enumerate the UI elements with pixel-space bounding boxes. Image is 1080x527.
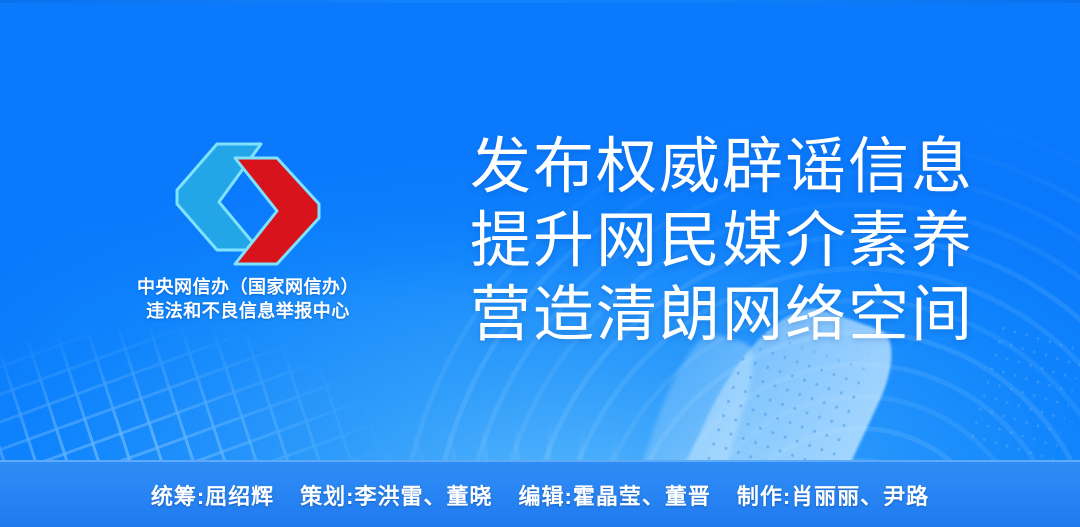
headline-line-2: 提升网民媒介素养 <box>470 204 990 278</box>
credits-role: 策划: <box>300 484 354 509</box>
logo-caption-line-2: 违法和不良信息举报中心 <box>88 300 408 324</box>
credits-role: 编辑: <box>519 484 573 509</box>
top-edge-line <box>0 0 1080 3</box>
poster-canvas: 中央网信办（国家网信办） 违法和不良信息举报中心 发布权威辟谣信息 提升网民媒介… <box>0 0 1080 527</box>
credits-role: 统筹: <box>151 484 205 509</box>
headline-block: 发布权威辟谣信息 提升网民媒介素养 营造清朗网络空间 <box>470 130 990 351</box>
credits-text: 统筹:屈绍辉策划:李洪雷、董晓编辑:霍晶莹、董晋制作:肖丽丽、尹路 <box>151 479 929 511</box>
headline-line-3: 营造清朗网络空间 <box>470 278 990 352</box>
credits-role: 制作: <box>737 484 791 509</box>
credits-names: 李洪雷、董晓 <box>354 484 492 509</box>
headline-line-1: 发布权威辟谣信息 <box>470 130 990 204</box>
credits-bar: 统筹:屈绍辉策划:李洪雷、董晓编辑:霍晶莹、董晋制作:肖丽丽、尹路 <box>0 460 1080 527</box>
credits-names: 屈绍辉 <box>205 484 274 509</box>
credits-names: 霍晶莹、董晋 <box>573 484 711 509</box>
logo-caption-line-1: 中央网信办（国家网信办） <box>88 276 408 300</box>
reporting-center-logo-icon <box>173 140 323 268</box>
credits-names: 肖丽丽、尹路 <box>791 484 929 509</box>
logo-caption: 中央网信办（国家网信办） 违法和不良信息举报中心 <box>88 276 408 324</box>
logo-block: 中央网信办（国家网信办） 违法和不良信息举报中心 <box>88 140 408 324</box>
